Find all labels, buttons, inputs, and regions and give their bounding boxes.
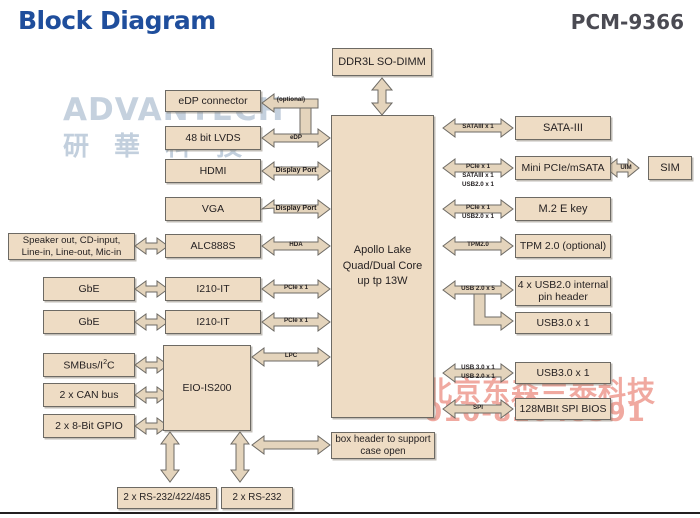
block-gpio[interactable]: 2 x 8-Bit GPIO [43,414,135,438]
bus-label-lpc: LPC [267,352,315,360]
arrow-gbe2 [135,314,168,330]
block-lvds[interactable]: 48 bit LVDS [165,126,261,150]
block-tpm-label: TPM 2.0 (optional) [520,240,606,252]
arrow-usb20-branch [474,294,513,330]
block-case-open-header-label: box header to support case open [335,434,430,457]
block-gpio-label: 2 x 8-Bit GPIO [55,420,123,432]
arrow-gbe1 [135,281,168,297]
arrow-memory [372,78,392,115]
bus-label-hda: HDA [272,241,320,249]
block-edp-connector-label: eDP connector [178,95,247,107]
bus-label-m2e-1: PCIe x 1 [454,204,502,212]
bus-label-usb30x1: USB 3.0 x 1 [452,364,504,372]
block-vga[interactable]: VGA [165,197,261,221]
block-audio-codec[interactable]: ALC888S [165,234,261,258]
block-usb2-pin-header-label: 4 x USB2.0 internal pin header [518,279,608,304]
block-cpu[interactable]: Apollo Lake Quad/Dual Core up tp 13W [331,115,434,418]
block-hdmi[interactable]: HDMI [165,159,261,183]
block-lan-controller-2-label: I210-IT [196,316,229,328]
block-serial-rs232[interactable]: 2 x RS-232 [221,487,293,509]
bus-label-edp: eDP [272,134,320,142]
arrow-serial-multi [161,432,179,482]
block-case-open-header[interactable]: box header to support case open [331,432,435,459]
block-spi-bios[interactable]: 128MBIt SPI BIOS [515,398,611,420]
block-memory-label: DDR3L SO-DIMM [338,56,426,69]
bus-label-minipcie-3: USB2.0 x 1 [454,181,502,189]
block-m2-e-key[interactable]: M.2 E key [515,197,611,221]
block-usb2-pin-header[interactable]: 4 x USB2.0 internal pin header [515,276,611,306]
bus-label-usb20x1: USB 2.0 x 1 [452,373,504,381]
block-gbe-2[interactable]: GbE [43,310,135,334]
block-sio[interactable]: EIO-IS200 [163,345,251,431]
block-gbe-1-label: GbE [78,283,99,295]
block-sim[interactable]: SIM [648,156,692,180]
block-audio-codec-label: ALC888S [191,240,236,252]
block-audio-jacks-label: Speaker out, CD-input, Line-in, Line-out… [22,235,122,258]
block-gbe-2-label: GbE [78,316,99,328]
block-usb3-b-label: USB3.0 x 1 [536,367,589,379]
block-lan-controller-1[interactable]: I210-IT [165,277,261,301]
bus-label-minipcie-2: SATAIII x 1 [454,172,502,180]
block-cpu-label: Apollo Lake Quad/Dual Core up tp 13W [343,243,423,291]
bus-label-tpm: TPM2.0 [454,241,502,249]
bus-label-edp-optional: (optional) [267,96,315,104]
bus-label-minipcie-1: PCIe x 1 [454,163,502,171]
block-memory[interactable]: DDR3L SO-DIMM [332,48,432,76]
bus-label-pcie-lan1: PCIe x 1 [272,284,320,292]
bus-label-usb20x5: USB 2.0 x 5 [452,285,504,293]
block-usb3-a-label: USB3.0 x 1 [536,317,589,329]
block-spi-bios-label: 128MBIt SPI BIOS [520,403,607,415]
bus-label-m2e-2: USB2.0 x 1 [454,213,502,221]
block-smbus-i2c-label: SMBus/I2C [63,358,114,372]
block-smbus-i2c[interactable]: SMBus/I2C [43,353,135,377]
block-sata3-label: SATA-III [543,122,583,135]
arrow-serial-232 [231,432,249,482]
bus-label-vga-dp: Display Port [268,205,324,214]
block-can-bus[interactable]: 2 x CAN bus [43,383,135,407]
block-edp-connector[interactable]: eDP connector [165,90,261,112]
block-serial-multiprotocol[interactable]: 2 x RS-232/422/485 [117,487,217,509]
block-tpm[interactable]: TPM 2.0 (optional) [515,234,611,258]
bus-label-sata3: SATAIII x 1 [454,123,502,131]
block-sio-label: EIO-IS200 [182,382,231,394]
block-mini-pcie-msata[interactable]: Mini PCIe/mSATA [515,156,611,180]
block-diagram-canvas: Block Diagram PCM-9366 ADVANTECH 研 華 科 技… [0,0,700,518]
block-lvds-label: 48 bit LVDS [185,132,240,144]
arrow-case-open [252,436,330,454]
block-lan-controller-2[interactable]: I210-IT [165,310,261,334]
block-lan-controller-1-label: I210-IT [196,283,229,295]
bus-label-hdmi-dp: Display Port [268,167,324,176]
block-usb3-b[interactable]: USB3.0 x 1 [515,362,611,384]
block-sim-label: SIM [660,162,680,175]
block-gbe-1[interactable]: GbE [43,277,135,301]
block-sata3[interactable]: SATA-III [515,116,611,140]
block-serial-multiprotocol-label: 2 x RS-232/422/485 [123,492,210,504]
block-audio-jacks[interactable]: Speaker out, CD-input, Line-in, Line-out… [8,233,135,260]
block-m2-e-key-label: M.2 E key [539,203,588,216]
bus-label-uim: UIM [610,164,642,172]
block-serial-rs232-label: 2 x RS-232 [232,492,281,504]
block-can-bus-label: 2 x CAN bus [60,389,119,401]
block-usb3-a[interactable]: USB3.0 x 1 [515,312,611,334]
bus-label-spi: SPI [454,404,502,412]
block-hdmi-label: HDMI [200,165,227,177]
block-mini-pcie-msata-label: Mini PCIe/mSATA [521,162,604,174]
block-vga-label: VGA [202,203,224,215]
bus-label-pcie-lan2: PCIe x 1 [272,317,320,325]
arrow-audio-jacks [135,238,168,254]
